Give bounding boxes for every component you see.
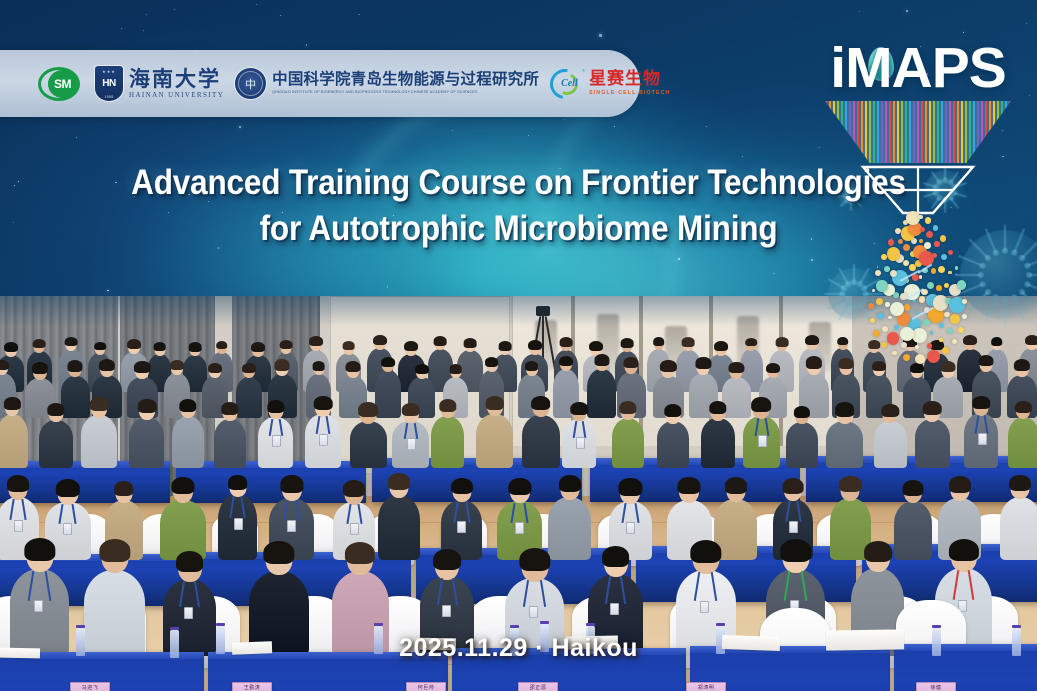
name-plate-text: 王勤涛 xyxy=(233,683,271,691)
audience-hair xyxy=(621,338,634,347)
audience-member xyxy=(392,421,428,468)
audience-hair xyxy=(780,539,811,562)
audience-hair xyxy=(242,363,256,373)
audience-hair xyxy=(923,401,942,415)
audience-member xyxy=(0,414,28,468)
audience-hair xyxy=(170,360,184,370)
audience-hair xyxy=(312,361,325,370)
audience-hair xyxy=(176,551,204,572)
audience-hair xyxy=(940,361,955,373)
lanyard xyxy=(952,570,959,600)
audience-hair xyxy=(228,475,248,489)
hainan-name-en: HAINAN UNIVERSITY xyxy=(129,92,224,99)
lanyard xyxy=(278,419,283,436)
audience-hair xyxy=(434,336,447,345)
audience-member xyxy=(743,416,780,468)
audience-hair xyxy=(619,401,636,414)
scb-name-en: SINGLE·CELL BIOTECH xyxy=(589,91,670,96)
audience-member xyxy=(548,497,590,560)
imaps-droplet-icon xyxy=(854,222,982,362)
lanyard xyxy=(465,502,470,523)
name-plate: 徐健 xyxy=(916,682,956,691)
name-badge xyxy=(350,523,359,535)
audience-hair xyxy=(32,362,48,374)
audience-hair xyxy=(709,401,726,414)
audience-member xyxy=(431,416,464,468)
lanyard xyxy=(800,571,807,601)
audience-hair xyxy=(725,477,747,494)
audience-hair xyxy=(528,340,542,350)
audience-member xyxy=(1000,497,1037,560)
name-plate-text: 邵正源 xyxy=(519,683,557,691)
audience-hair xyxy=(882,404,899,417)
audience-member xyxy=(562,419,596,468)
audience-hair xyxy=(571,402,588,415)
audience-hair xyxy=(381,357,395,367)
audience-hair xyxy=(508,478,531,495)
scb-registered-mark: ® xyxy=(582,68,585,73)
hainan-name-cn: 海南大学 xyxy=(129,69,224,90)
audience-hair xyxy=(949,476,971,493)
audience-hair xyxy=(864,541,892,562)
lanyard xyxy=(230,496,235,518)
lanyard xyxy=(968,570,975,600)
audience-member xyxy=(61,376,90,418)
single-cell-mark-icon: Cell ® xyxy=(549,67,585,101)
audience-hair xyxy=(359,402,379,416)
name-plate-text: 何巨帅 xyxy=(407,683,445,691)
hainan-year: 1958 xyxy=(95,95,123,99)
logo-single-cell-biotech: Cell ® 星赛生物 SINGLE·CELL BIOTECH xyxy=(549,67,670,101)
audience-hair xyxy=(346,361,361,373)
audience-hair xyxy=(275,359,290,371)
audience-hair xyxy=(619,478,642,495)
audience-hair xyxy=(65,337,78,346)
lanyard xyxy=(316,416,321,434)
lanyard xyxy=(765,418,770,436)
audience-hair xyxy=(138,399,157,413)
audience-member xyxy=(218,494,257,560)
audience-hair xyxy=(415,364,429,374)
audience-hair xyxy=(531,396,551,410)
qibebt-name-en: QINGDAO INSTITUTE OF BIOENERGY AND BIOPR… xyxy=(272,91,539,95)
lanyard xyxy=(785,501,790,522)
audience-hair xyxy=(449,364,462,373)
audience-member xyxy=(722,377,751,418)
lanyard xyxy=(269,419,274,436)
imaps-funnel-icon xyxy=(859,164,977,216)
audience-member xyxy=(522,415,560,468)
audience-hair xyxy=(949,539,979,561)
lanyard xyxy=(453,502,458,523)
audience-member xyxy=(612,418,645,468)
name-plate-text: 马迎飞 xyxy=(71,683,109,691)
audience-hair xyxy=(485,357,499,367)
audience-member xyxy=(214,419,246,468)
audience-hair xyxy=(451,478,473,495)
audience-hair xyxy=(153,342,166,351)
name-plate-text: 徐健 xyxy=(917,683,955,691)
name-badge xyxy=(63,523,72,535)
audience-hair xyxy=(485,396,504,410)
name-badge xyxy=(576,437,585,449)
audience-hair xyxy=(682,337,695,346)
audience-hair xyxy=(664,404,681,417)
lanyard xyxy=(283,500,288,521)
audience-member xyxy=(81,415,116,468)
logo-hainan-university: ★★★ HN 1958 海南大学 HAINAN UNIVERSITY xyxy=(94,65,224,102)
audience-member xyxy=(786,422,818,468)
audience-hair xyxy=(1009,475,1031,492)
audience-hair xyxy=(280,340,293,349)
lanyard xyxy=(754,418,759,436)
lanyard xyxy=(72,504,77,524)
name-badge xyxy=(978,433,987,445)
lanyard xyxy=(605,576,611,604)
audience-member xyxy=(305,414,341,468)
audience-hair xyxy=(560,337,573,346)
audience-hair xyxy=(745,338,757,347)
audience-hair xyxy=(99,539,130,562)
audience-hair xyxy=(839,476,861,493)
audience-member xyxy=(1008,417,1037,468)
qibebt-seal-icon: 中 xyxy=(234,67,267,100)
audience-hair xyxy=(766,363,780,373)
lanyard xyxy=(22,499,27,521)
audience-member xyxy=(129,417,164,468)
logo-sm: SM xyxy=(38,65,84,103)
audience-hair xyxy=(345,542,375,564)
audience-hair xyxy=(499,341,512,350)
sm-disc-icon: SM xyxy=(48,70,77,98)
audience-hair xyxy=(4,397,20,409)
audience-member xyxy=(236,377,262,418)
lanyard xyxy=(540,580,546,606)
lanyard xyxy=(194,581,200,607)
name-badge xyxy=(14,520,23,532)
name-badge xyxy=(700,601,709,613)
audience-hair xyxy=(342,341,355,350)
lanyard xyxy=(403,423,407,439)
audience-hair xyxy=(525,361,539,371)
hainan-stars: ★★★ xyxy=(95,69,123,74)
audience-member xyxy=(375,370,401,418)
audience-hair xyxy=(660,360,676,372)
name-plate: 马迎飞 xyxy=(70,682,110,691)
audience-hair xyxy=(47,403,64,416)
audience-member xyxy=(894,501,933,560)
name-plate: 王勤涛 xyxy=(232,682,272,691)
audience-member xyxy=(476,414,513,468)
name-badge xyxy=(234,518,243,530)
lanyard xyxy=(414,423,418,439)
audience-hair xyxy=(99,359,115,371)
audience-hair xyxy=(559,356,573,366)
audience-hair xyxy=(221,402,238,415)
audience-hair xyxy=(729,362,744,374)
audience-hair xyxy=(401,403,420,417)
audience-hair xyxy=(0,360,9,370)
lanyard xyxy=(796,501,801,522)
audience-member xyxy=(915,419,950,468)
name-plate: 邵正源 xyxy=(518,682,558,691)
audience-hair xyxy=(343,480,365,497)
name-badge xyxy=(457,521,466,533)
name-badge xyxy=(287,520,296,532)
name-badge xyxy=(184,607,193,619)
audience-hair xyxy=(171,477,194,494)
name-badge xyxy=(758,435,767,447)
audience-hair xyxy=(251,342,265,352)
name-badge xyxy=(407,438,416,450)
audience-hair xyxy=(973,396,990,409)
audience-hair xyxy=(872,361,886,371)
name-badge xyxy=(272,435,281,447)
name-badge xyxy=(34,600,43,612)
lanyard xyxy=(437,578,443,605)
audience-hair xyxy=(94,342,106,351)
lanyard xyxy=(694,572,701,601)
audience-hair xyxy=(373,335,387,345)
audience-hair xyxy=(653,337,665,346)
audience-hair xyxy=(624,357,639,369)
audience-member xyxy=(587,369,616,418)
audience-member xyxy=(160,500,206,560)
lanyard xyxy=(28,571,35,601)
scb-name-cn: 星赛生物 xyxy=(589,71,670,88)
audience-hair xyxy=(903,480,924,496)
lanyard xyxy=(634,503,639,523)
lanyard xyxy=(296,500,301,521)
audience-hair xyxy=(24,538,55,561)
audience-hair xyxy=(68,360,83,372)
audience-hair xyxy=(783,478,804,494)
audience-hair xyxy=(910,363,924,373)
audience-member xyxy=(172,416,204,468)
logo-qibebt-cas: 中 中国科学院青岛生物能源与过程研究所 QINGDAO INSTITUTE OF… xyxy=(234,67,539,100)
qibebt-mark-text: 中 xyxy=(245,76,256,92)
audience-hair xyxy=(179,399,196,412)
audience-hair xyxy=(134,361,150,373)
audience-hair xyxy=(439,399,456,412)
name-plate: 郑涛明 xyxy=(686,682,726,691)
lanyard xyxy=(620,576,626,604)
audience-hair xyxy=(56,479,80,497)
lanyard xyxy=(523,580,529,606)
lanyard xyxy=(326,416,331,434)
audience-hair xyxy=(690,540,721,563)
audience-member xyxy=(657,421,690,468)
audience-hair xyxy=(127,339,141,349)
audience-hair xyxy=(794,406,810,418)
audience-hair xyxy=(1025,335,1037,345)
name-plate-text: 郑涛明 xyxy=(687,683,725,691)
audience-hair xyxy=(189,342,202,351)
audience-member xyxy=(350,421,387,468)
imaps-brand-text: iMAPS xyxy=(830,36,1006,100)
audience-member xyxy=(258,417,292,468)
audience-hair xyxy=(90,397,109,411)
audience-hair xyxy=(752,397,772,411)
hainan-shield-icon: ★★★ HN 1958 xyxy=(94,65,124,102)
audience-hair xyxy=(263,541,294,564)
sponsor-logo-banner: SM ★★★ HN 1958 海南大学 HAINAN UNIVERSITY 中 … xyxy=(0,50,640,117)
event-poster: 马迎飞王勤涛何巨帅邵正源郑涛明徐健 SM ★★★ HN 1958 海南大学 xyxy=(0,0,1037,691)
name-badge xyxy=(442,605,451,617)
name-badge xyxy=(789,521,798,533)
date-location-text: 2025.11.29 · Haikou xyxy=(0,634,1037,663)
lanyard xyxy=(711,572,718,601)
name-plate: 何巨帅 xyxy=(406,682,446,691)
audience-hair xyxy=(7,475,29,492)
audience-hair xyxy=(404,341,418,351)
audience-hair xyxy=(602,546,630,567)
audience-hair xyxy=(594,354,609,366)
lanyard xyxy=(179,581,185,607)
audience-hair xyxy=(309,336,323,346)
audience-hair xyxy=(33,339,46,348)
lanyard xyxy=(511,503,516,523)
name-badge xyxy=(319,434,328,446)
lanyard xyxy=(523,503,528,523)
audience-hair xyxy=(835,402,855,416)
lanyard xyxy=(784,571,791,601)
sm-mark-text: SM xyxy=(54,77,71,91)
lanyard xyxy=(984,415,989,434)
audience-member xyxy=(701,418,735,468)
name-badge xyxy=(626,522,635,534)
audience-hair xyxy=(678,477,701,494)
audience-hair xyxy=(280,475,303,492)
audience-member xyxy=(39,420,73,468)
audience-hair xyxy=(714,341,728,351)
lanyard xyxy=(59,504,64,524)
audience-member xyxy=(826,421,863,468)
audience-hair xyxy=(519,548,550,571)
audience-hair xyxy=(433,549,461,570)
audience-hair xyxy=(696,357,711,369)
scb-mark-text: Cell xyxy=(561,78,578,89)
name-badge xyxy=(610,603,619,615)
lanyard xyxy=(346,504,351,524)
audience-hair xyxy=(216,341,228,350)
name-badge xyxy=(515,522,524,534)
audience-hair xyxy=(267,400,284,413)
imaps-logo: iMAPS xyxy=(813,40,1023,362)
audience-hair xyxy=(464,338,477,347)
lanyard xyxy=(358,504,363,524)
audience-hair xyxy=(589,341,603,351)
audience-hair xyxy=(388,473,410,490)
audience-hair xyxy=(1015,401,1031,413)
hainan-mark-text: HN xyxy=(102,78,115,89)
lanyard xyxy=(974,415,979,434)
lanyard xyxy=(452,578,458,605)
audience-member xyxy=(874,421,907,468)
audience-hair xyxy=(4,342,18,352)
lanyard xyxy=(240,496,245,518)
audience-hair xyxy=(776,337,789,346)
audience-member xyxy=(378,495,420,560)
name-badge xyxy=(529,606,538,618)
qibebt-name-cn: 中国科学院青岛生物能源与过程研究所 xyxy=(272,72,539,88)
lanyard xyxy=(573,421,578,438)
lanyard xyxy=(10,499,15,521)
audience-hair xyxy=(114,481,134,495)
audience-member xyxy=(964,413,998,468)
audience-hair xyxy=(314,396,333,410)
audience-hair xyxy=(208,363,222,373)
audience-hair xyxy=(559,475,581,492)
imaps-wordmark: iMAPS xyxy=(813,40,1023,97)
lanyard xyxy=(622,503,627,523)
lanyard xyxy=(44,571,51,601)
imaps-prism-icon xyxy=(825,101,1011,163)
lanyard xyxy=(582,421,587,438)
